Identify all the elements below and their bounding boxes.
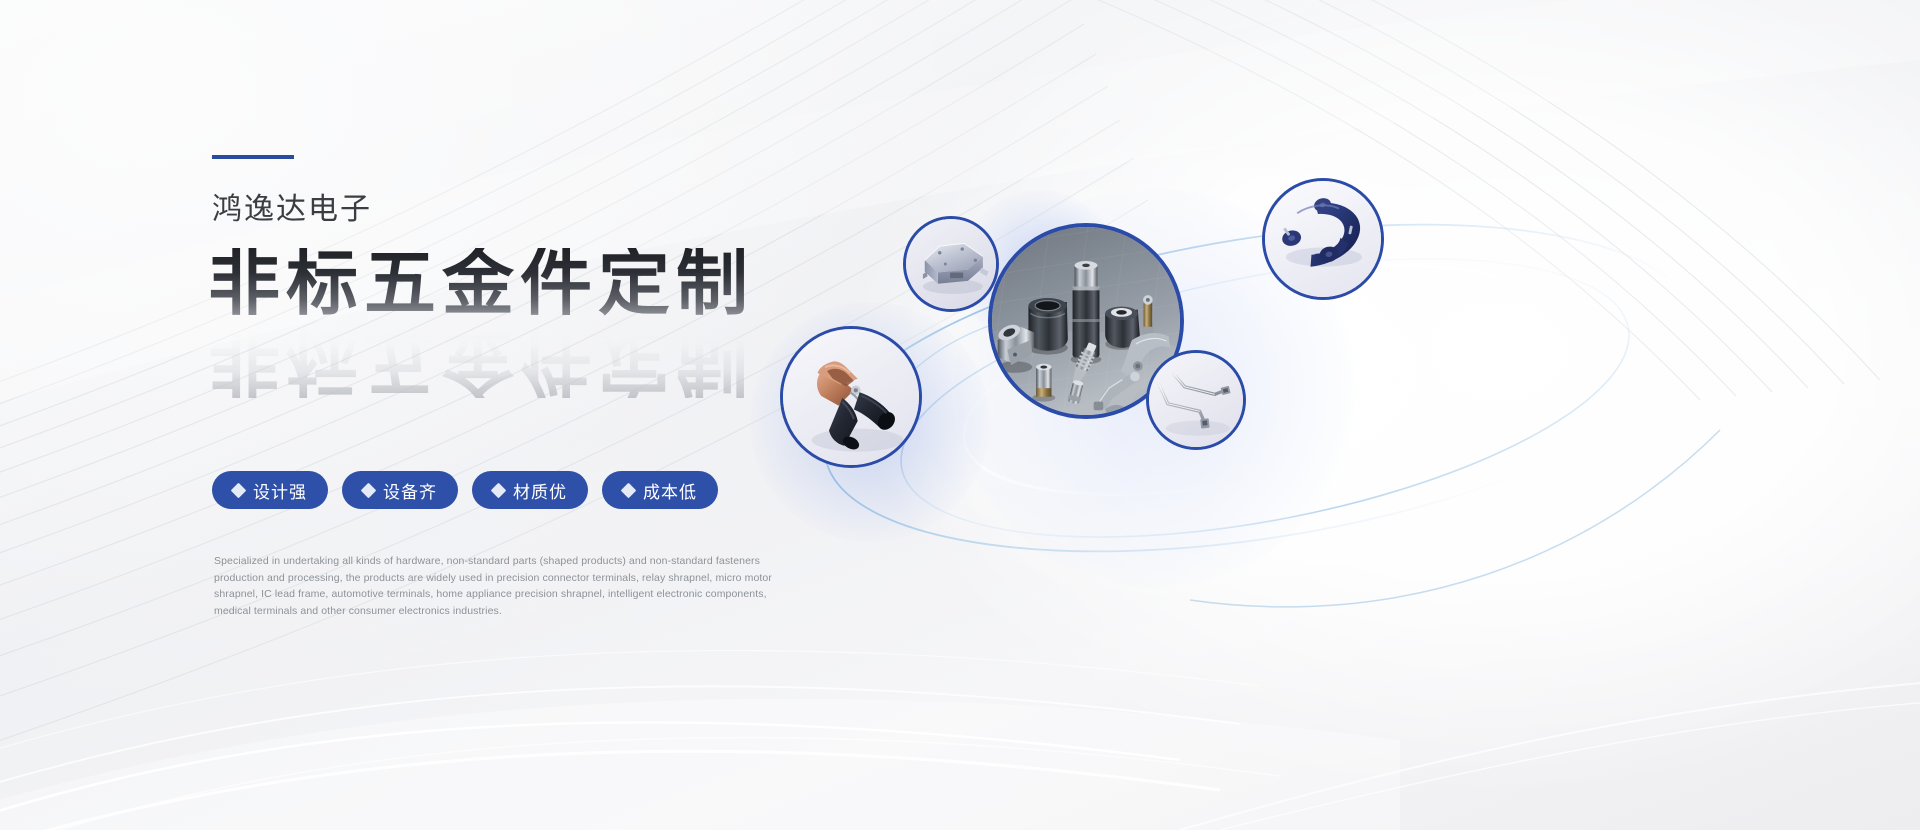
diamond-icon <box>231 482 247 498</box>
diamond-icon <box>621 482 637 498</box>
retaining-ring-image <box>1265 181 1381 297</box>
page-title: 非标五金件定制 <box>208 248 828 320</box>
feature-badge-equipment[interactable]: 设备齐 <box>342 471 458 509</box>
product-node-battery-clamp[interactable] <box>780 326 922 468</box>
accent-bar <box>212 155 294 159</box>
description-paragraph: Specialized in undertaking all kinds of … <box>214 553 780 619</box>
battery-clamp-image <box>783 329 919 465</box>
product-showcase-graphic <box>760 130 1760 670</box>
feature-badge-label: 成本低 <box>643 478 697 503</box>
diamond-icon <box>361 482 377 498</box>
feature-badge-cost[interactable]: 成本低 <box>602 471 718 509</box>
feature-badge-list: 设计强 设备齐 材质优 成本低 <box>212 471 718 509</box>
metal-enclosure-image <box>906 219 996 309</box>
feature-badge-label: 材质优 <box>513 478 567 503</box>
headline-block: 非标五金件定制 非标五金件定制 <box>208 248 828 378</box>
product-node-metal-enclosure[interactable] <box>903 216 999 312</box>
product-node-retaining-ring[interactable] <box>1262 178 1384 300</box>
diamond-icon <box>491 482 507 498</box>
feature-badge-design[interactable]: 设计强 <box>212 471 328 509</box>
brand-name: 鸿逸达电子 <box>212 184 372 228</box>
feature-badge-material[interactable]: 材质优 <box>472 471 588 509</box>
terminal-pins-image <box>1149 353 1243 447</box>
headline-reflection: 非标五金件定制 <box>208 326 754 398</box>
hero-banner: 鸿逸达电子 非标五金件定制 非标五金件定制 设计强 设备齐 材质优 成本低 <box>0 0 1920 830</box>
product-node-terminal-pins[interactable] <box>1146 350 1246 450</box>
feature-badge-label: 设计强 <box>253 478 307 503</box>
feature-badge-label: 设备齐 <box>383 478 437 503</box>
